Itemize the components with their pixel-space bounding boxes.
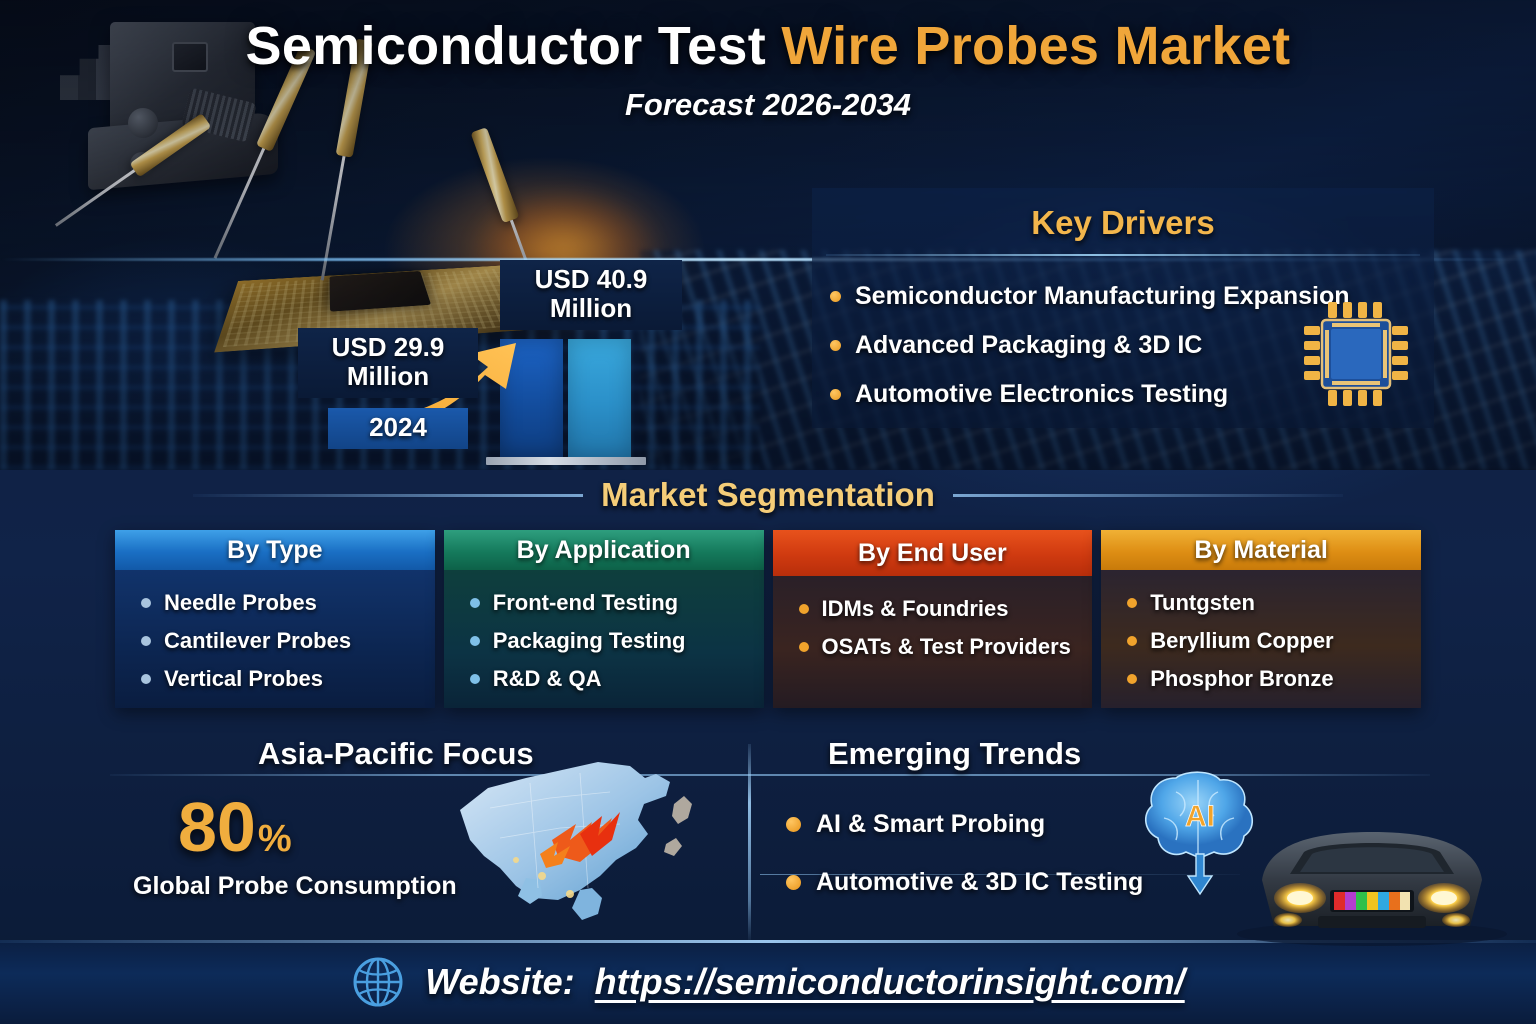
footer-url[interactable]: https://semiconductorinsight.com/ bbox=[595, 961, 1185, 1003]
item-label: IDMs & Foundries bbox=[822, 596, 1009, 622]
list-item: Beryllium Copper bbox=[1127, 622, 1421, 660]
bullet-dot-icon bbox=[141, 636, 151, 646]
key-drivers-divider bbox=[826, 254, 1420, 256]
key-driver-label: Semiconductor Manufacturing Expansion bbox=[855, 282, 1350, 311]
item-label: Packaging Testing bbox=[493, 628, 686, 654]
footer-bar: Website: https://semiconductorinsight.co… bbox=[0, 940, 1536, 1024]
bullet-dot-icon bbox=[141, 598, 151, 608]
title-highlight: Wire Probes Market bbox=[781, 16, 1290, 76]
globe-icon bbox=[351, 955, 405, 1009]
card-body: Front-end Testing Packaging Testing R&D … bbox=[444, 570, 764, 708]
infographic-page: Semiconductor Test Wire Probes Market Fo… bbox=[0, 0, 1536, 1024]
bullet-dot-icon bbox=[470, 598, 480, 608]
segmentation-header: Market Segmentation bbox=[0, 472, 1536, 518]
bar-2034 bbox=[568, 339, 631, 457]
trend-label: AI & Smart Probing bbox=[816, 810, 1045, 839]
bullet-dot-icon bbox=[830, 291, 841, 302]
card-heading: By Material bbox=[1101, 530, 1421, 570]
list-item: R&D & QA bbox=[470, 660, 764, 698]
bullet-dot-icon bbox=[786, 817, 801, 832]
list-item: Vertical Probes bbox=[141, 660, 435, 698]
item-label: Vertical Probes bbox=[164, 666, 323, 692]
trend-label: Automotive & 3D IC Testing bbox=[816, 868, 1143, 897]
card-body: Tuntgsten Beryllium Copper Phosphor Bron… bbox=[1101, 570, 1421, 708]
page-title: Semiconductor Test Wire Probes Market bbox=[0, 18, 1536, 75]
segmentation-title: Market Segmentation bbox=[601, 476, 935, 514]
chart-baseline bbox=[486, 457, 646, 465]
item-label: Beryllium Copper bbox=[1150, 628, 1333, 654]
list-item: OSATs & Test Providers bbox=[799, 628, 1093, 666]
card-heading: By Application bbox=[444, 530, 764, 570]
bullet-dot-icon bbox=[470, 674, 480, 684]
bullet-dot-icon bbox=[799, 604, 809, 614]
list-item: IDMs & Foundries bbox=[799, 590, 1093, 628]
segmentation-card-by-type[interactable]: By Type Needle Probes Cantilever Probes … bbox=[115, 530, 435, 708]
bullet-dot-icon bbox=[830, 389, 841, 400]
segmentation-card-by-material[interactable]: By Material Tuntgsten Beryllium Copper P… bbox=[1101, 530, 1421, 708]
bullet-dot-icon bbox=[470, 636, 480, 646]
bullet-dot-icon bbox=[786, 875, 801, 890]
key-drivers-panel: Key Drivers Semiconductor Manufacturing … bbox=[812, 188, 1434, 428]
car-icon bbox=[1222, 806, 1522, 946]
list-item: Cantilever Probes bbox=[141, 622, 435, 660]
page-subtitle: Forecast 2026-2034 bbox=[0, 87, 1536, 123]
item-label: Needle Probes bbox=[164, 590, 317, 616]
segmentation-card-by-application[interactable]: By Application Front-end Testing Packagi… bbox=[444, 530, 764, 708]
key-driver-label: Advanced Packaging & 3D IC bbox=[855, 331, 1202, 360]
title-primary: Semiconductor Test bbox=[246, 16, 782, 76]
item-label: OSATs & Test Providers bbox=[822, 634, 1071, 660]
asia-map-icon bbox=[430, 748, 720, 928]
key-drivers-title: Key Drivers bbox=[812, 204, 1434, 242]
list-item: Phosphor Bronze bbox=[1127, 660, 1421, 698]
key-driver-label: Automotive Electronics Testing bbox=[855, 380, 1228, 409]
list-item: Needle Probes bbox=[141, 584, 435, 622]
ai-badge-text: AI bbox=[1185, 800, 1215, 833]
segmentation-cards: By Type Needle Probes Cantilever Probes … bbox=[115, 530, 1421, 708]
bullet-dot-icon bbox=[1127, 674, 1137, 684]
market-size-chart: USD 29.9 Million USD 40.9 Million 2024 bbox=[300, 250, 650, 465]
list-item: AI & Smart Probing bbox=[786, 810, 1045, 839]
list-item: Packaging Testing bbox=[470, 622, 764, 660]
item-label: Front-end Testing bbox=[493, 590, 678, 616]
item-label: R&D & QA bbox=[493, 666, 602, 692]
card-body: IDMs & Foundries OSATs & Test Providers bbox=[773, 576, 1093, 708]
item-label: Phosphor Bronze bbox=[1150, 666, 1333, 692]
card-heading: By Type bbox=[115, 530, 435, 570]
list-item: Automotive & 3D IC Testing bbox=[786, 868, 1143, 897]
percent-caption: Global Probe Consumption bbox=[133, 872, 457, 901]
card-body: Needle Probes Cantilever Probes Vertical… bbox=[115, 570, 435, 708]
segmentation-card-by-end-user[interactable]: By End User IDMs & Foundries OSATs & Tes… bbox=[773, 530, 1093, 708]
item-label: Tuntgsten bbox=[1150, 590, 1255, 616]
value-label-2034: USD 40.9 Million bbox=[500, 260, 682, 330]
divider-left bbox=[193, 494, 583, 497]
emerging-trends-title: Emerging Trends bbox=[828, 736, 1081, 772]
card-heading: By End User bbox=[773, 530, 1093, 576]
item-label: Cantilever Probes bbox=[164, 628, 351, 654]
base-year-label: 2024 bbox=[328, 408, 468, 449]
bullet-dot-icon bbox=[799, 642, 809, 652]
bullet-dot-icon bbox=[830, 340, 841, 351]
footer-label: Website: bbox=[425, 961, 574, 1003]
bullet-dot-icon bbox=[1127, 598, 1137, 608]
list-item: Tuntgsten bbox=[1127, 584, 1421, 622]
list-item: Front-end Testing bbox=[470, 584, 764, 622]
percent-symbol: % bbox=[258, 818, 292, 861]
chip-icon bbox=[1302, 300, 1410, 408]
bullet-dot-icon bbox=[1127, 636, 1137, 646]
value-label-2024: USD 29.9 Million bbox=[298, 328, 478, 398]
title-block: Semiconductor Test Wire Probes Market Fo… bbox=[0, 18, 1536, 123]
percent-value: 80 bbox=[178, 792, 256, 862]
bottom-vertical-divider bbox=[748, 744, 751, 940]
bullet-dot-icon bbox=[141, 674, 151, 684]
percent-stat: 80 % bbox=[178, 792, 292, 862]
divider-right bbox=[953, 494, 1343, 497]
